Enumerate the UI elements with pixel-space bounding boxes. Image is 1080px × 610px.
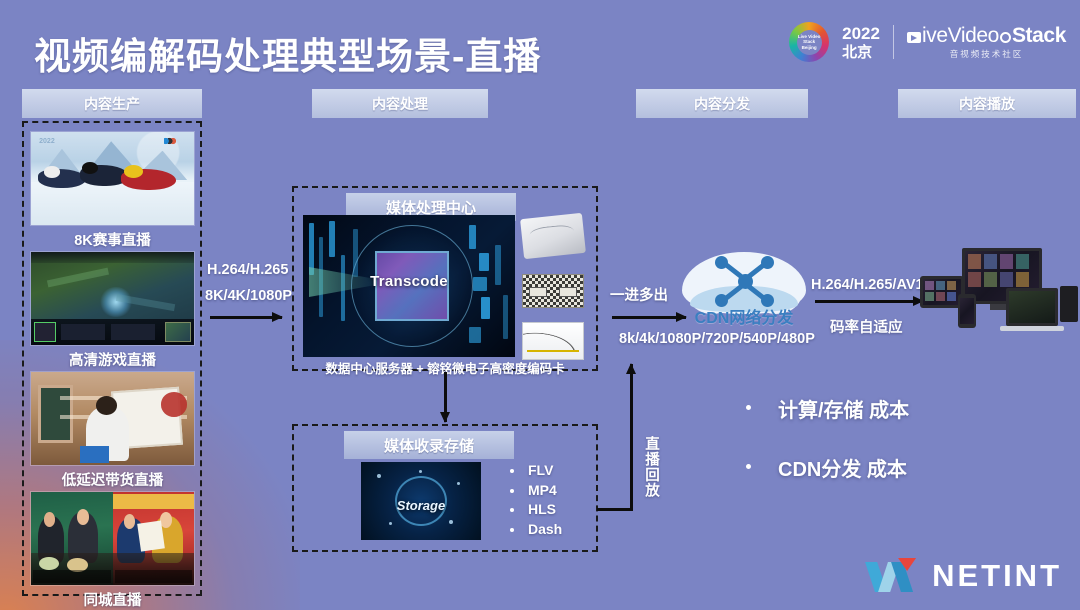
logo-divider [893, 25, 894, 59]
brand-tagline: 音视频技术社区 [907, 50, 1066, 59]
brand-name-bold: Stack [1012, 24, 1066, 47]
event-year: 2022 [842, 25, 880, 42]
ingest-resolution-label: 8K/4K/1080P [205, 288, 292, 304]
brand-name-mid: Video [948, 24, 999, 47]
production-item-label: 同城直播 [30, 589, 195, 610]
thumbnail-studio [30, 371, 195, 466]
header-logos: Live Video Stack Beijing 2022 北京 iveVide… [789, 22, 1066, 62]
netint-logo: NETINT [865, 558, 1062, 594]
arrow-fanout [612, 316, 686, 319]
transcode-image: Transcode [303, 215, 515, 357]
replay-arrow-horizontal [597, 508, 633, 511]
list-item: FLV [506, 462, 562, 478]
arrow-ingest [210, 316, 282, 319]
production-item-label: 高清游戏直播 [30, 349, 195, 370]
cost-bullet-cdn: CDN分发 成本 [778, 453, 907, 482]
delivery-abr-label: 码率自适应 [830, 316, 903, 337]
play-icon [907, 32, 921, 43]
event-ring-inner-label: Live Video Stack Beijing [797, 30, 822, 55]
transcode-label: Transcode [303, 273, 515, 290]
stage-header-playback: 内容播放 [898, 89, 1076, 118]
event-year-city: 2022 北京 [842, 25, 880, 60]
list-item: MP4 [506, 482, 562, 498]
encoder-card-mesh-icon [522, 274, 584, 308]
thumbnail-food [30, 491, 195, 586]
thumbnail-skating: 2022 [30, 131, 195, 226]
encoder-card-white-icon [520, 213, 586, 259]
art-ecommerce-studio [31, 372, 194, 465]
laptop-device-icon [1006, 288, 1058, 326]
production-item-3: 同城直播 [30, 491, 195, 610]
production-item-2: 低延迟带货直播 [30, 371, 195, 490]
production-item-label: 低延迟带货直播 [30, 469, 195, 490]
livevideostack-brand: iveVideoStack 音视频技术社区 [907, 25, 1066, 59]
page-title: 视频编解码处理典型场景-直播 [34, 26, 541, 80]
laptop-base [1000, 326, 1064, 331]
art-short-track: 2022 [31, 132, 194, 225]
art-food-livestream [31, 492, 194, 585]
arrow-delivery [815, 300, 923, 303]
replay-label: 直播回放 [641, 436, 662, 498]
cdn-label: CDN网络分发 [682, 304, 806, 328]
event-city: 北京 [842, 45, 880, 60]
list-item: Dash [506, 521, 562, 537]
delivery-codec-label: H.264/H.265/AV1 [811, 277, 924, 293]
cost-bullet-compute-storage: 计算/存储 成本 [778, 394, 909, 423]
art-moba-game [31, 252, 194, 345]
slide-canvas: 视频编解码处理典型场景-直播 Live Video Stack Beijing … [0, 0, 1080, 610]
livevideostack-event-ring-icon: Live Video Stack Beijing [789, 22, 829, 62]
production-item-0: 2022 8K赛事直播 [30, 131, 195, 250]
fanout-resolution-label: 8k/4k/1080P/720P/540P/480P [619, 331, 815, 347]
record-dot-icon [1000, 32, 1011, 43]
netint-mark-icon [865, 558, 921, 594]
storage-image: Storage [361, 462, 481, 540]
stage-header-production: 内容生产 [22, 89, 202, 118]
arrow-to-storage [444, 372, 447, 422]
stage-header-distribution: 内容分发 [636, 89, 808, 118]
netint-wordmark: NETINT [932, 558, 1062, 594]
list-item: HLS [506, 501, 562, 517]
replay-arrow-vertical [630, 364, 633, 510]
storage-format-list: FLV MP4 HLS Dash [506, 462, 562, 540]
playback-devices-image [920, 248, 1078, 340]
production-item-1: 高清游戏直播 [30, 251, 195, 370]
cdn-cloud-icon: CDN网络分发 [682, 248, 806, 324]
storage-label: Storage [361, 498, 481, 513]
production-item-label: 8K赛事直播 [30, 229, 195, 250]
brand-name-light: ive [922, 24, 948, 47]
console-device-icon [1060, 286, 1078, 322]
fanout-label: 一进多出 [610, 284, 668, 305]
thumbnail-game [30, 251, 195, 346]
phone-device-icon [958, 294, 976, 328]
encoder-card-curve-icon [522, 322, 584, 360]
ingest-codec-label: H.264/H.265 [207, 262, 288, 278]
stage-header-processing: 内容处理 [312, 89, 488, 118]
storage-title: 媒体收录存储 [344, 431, 514, 459]
